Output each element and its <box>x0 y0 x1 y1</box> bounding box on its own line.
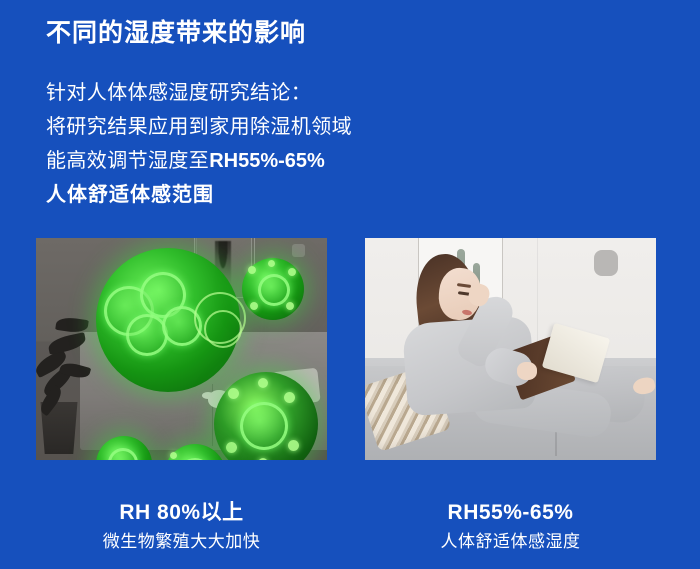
microbe-sphere <box>242 258 304 320</box>
body-copy: 针对人体体感湿度研究结论： 将研究结果应用到家用除湿机领域 能高效调节湿度至RH… <box>46 76 352 212</box>
promo-page: 不同的湿度带来的影响 针对人体体感湿度研究结论： 将研究结果应用到家用除湿机领域… <box>0 0 700 569</box>
microbe-sphere <box>96 248 240 392</box>
wall-speaker-icon <box>594 250 618 276</box>
caption-subtitle: 微生物繁殖大大加快 <box>36 531 327 553</box>
caption-title: RH55%-65% <box>365 500 656 526</box>
body-line-3-range: RH55%-65% <box>209 150 325 172</box>
caption-subtitle: 人体舒适体感湿度 <box>365 531 656 553</box>
caption-title: RH 80%以上 <box>36 500 327 526</box>
body-line-3-prefix: 能高效调节湿度至 <box>46 150 209 172</box>
photo-comfort-humidity <box>365 238 656 460</box>
woman-hand-on-book <box>517 362 537 380</box>
wall-switch-icon <box>292 244 305 257</box>
caption-comfort-humidity: RH55%-65% 人体舒适体感湿度 <box>365 500 656 553</box>
body-line-4: 人体舒适体感范围 <box>46 178 352 212</box>
light-room-scene <box>365 238 656 460</box>
body-line-1: 针对人体体感湿度研究结论： <box>46 76 352 110</box>
body-line-3: 能高效调节湿度至RH55%-65% <box>46 144 352 178</box>
dark-room-scene <box>36 238 327 460</box>
page-title: 不同的湿度带来的影响 <box>46 16 306 50</box>
plant-leaf <box>55 316 89 334</box>
plant-leaf <box>47 332 87 355</box>
body-line-2: 将研究结果应用到家用除湿机领域 <box>46 110 352 144</box>
photo-high-humidity <box>36 238 327 460</box>
caption-high-humidity: RH 80%以上 微生物繁殖大大加快 <box>36 500 327 553</box>
